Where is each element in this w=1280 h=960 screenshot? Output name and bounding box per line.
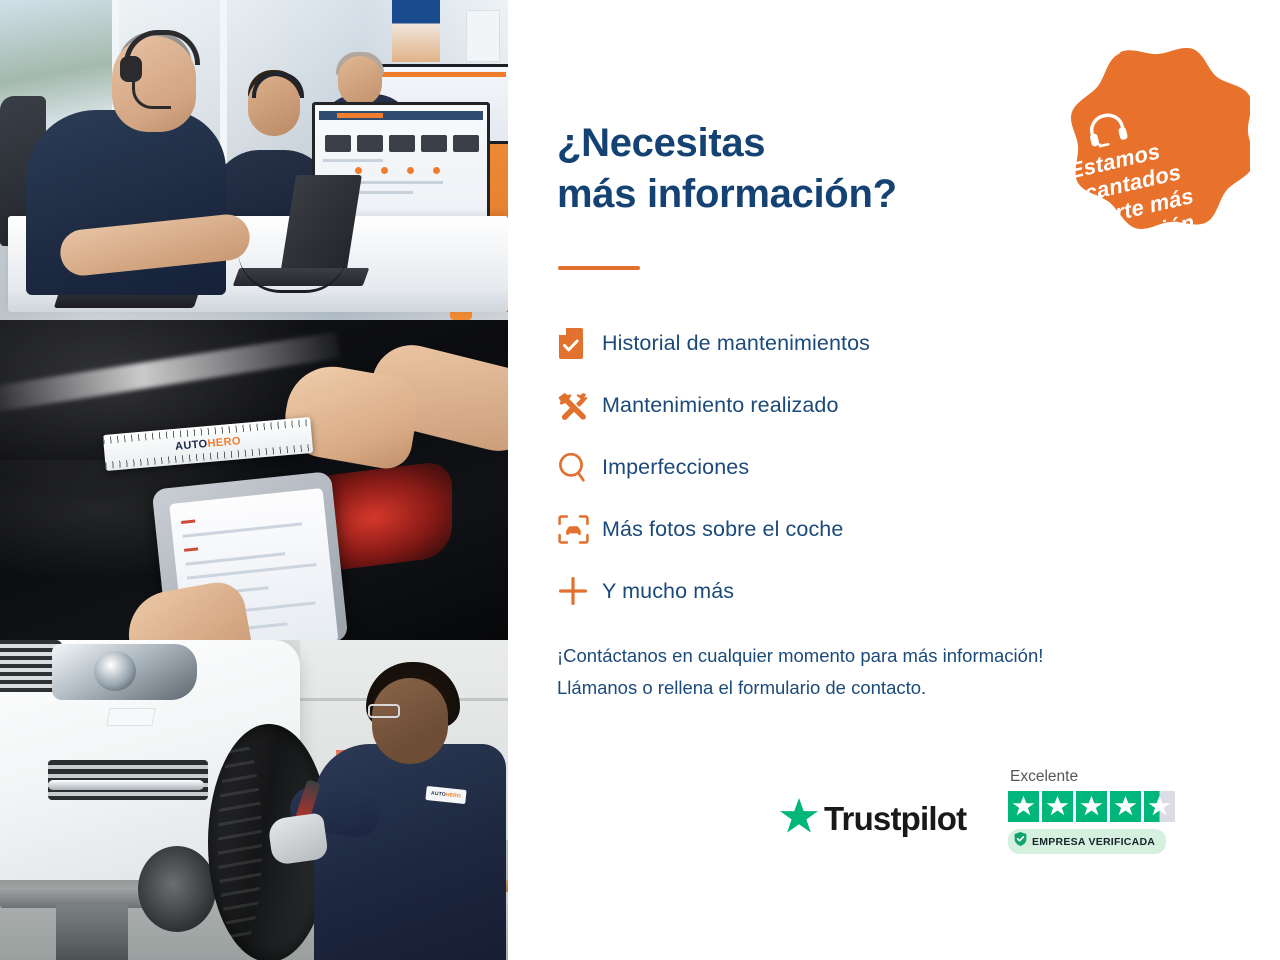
trustpilot-star-icon xyxy=(780,798,818,840)
mechanic-body xyxy=(314,744,506,960)
trustpilot-rating-block: Excelente xyxy=(1008,768,1208,854)
title-underline xyxy=(558,266,640,270)
support-badge: Estamos encantados de darte más informac… xyxy=(988,47,1250,315)
shield-check-icon xyxy=(1014,832,1027,851)
safety-glasses xyxy=(368,704,400,718)
feature-item-maintenance-done: Mantenimiento realizado xyxy=(558,374,1098,436)
agent-3-head xyxy=(338,56,382,106)
ruler-logo-hero: HERO xyxy=(207,435,241,450)
verified-company-badge: EMPRESA VERIFICADA xyxy=(1008,829,1166,854)
plus-icon xyxy=(558,576,602,606)
star-4 xyxy=(1110,791,1141,822)
star-5-half xyxy=(1144,791,1175,822)
trustpilot-rating-label: Excelente xyxy=(1010,768,1208,786)
magnifier-icon xyxy=(558,452,602,482)
ruler-logo-auto: AUTO xyxy=(175,438,209,453)
feature-item-much-more: Y mucho más xyxy=(558,560,1098,622)
page-title-line1: ¿Necesitas xyxy=(557,121,765,165)
star-3 xyxy=(1076,791,1107,822)
taillight xyxy=(322,460,452,572)
star-2 xyxy=(1042,791,1073,822)
car-viewfinder-icon xyxy=(558,515,602,544)
feature-label: Y mucho más xyxy=(602,579,734,604)
star-1 xyxy=(1008,791,1039,822)
patch-logo-hero: HERO xyxy=(445,792,461,800)
autohero-more-info-panel: AUTOHERO xyxy=(0,0,1280,960)
feature-label: Mantenimiento realizado xyxy=(602,393,839,418)
call-center-agents-photo xyxy=(0,0,508,320)
feature-label: Más fotos sobre el coche xyxy=(602,517,843,542)
photo-column: AUTOHERO xyxy=(0,0,508,960)
tools-wrench-screwdriver-icon xyxy=(558,390,602,421)
trustpilot-widget[interactable]: Trustpilot Excelente xyxy=(780,768,1200,880)
contact-line-1: ¡Contáctanos en cualquier momento para m… xyxy=(557,645,1043,666)
feature-label: Imperfecciones xyxy=(602,455,749,480)
license-plate-area xyxy=(106,708,155,726)
patch-logo-auto: AUTO xyxy=(431,790,446,798)
info-content: ¿Necesitasmás información? Es xyxy=(508,0,1280,960)
feature-label: Historial de mantenimientos xyxy=(602,331,870,356)
trustpilot-stars xyxy=(1008,791,1208,822)
car-headlamp xyxy=(52,644,197,700)
document-check-icon xyxy=(558,328,602,359)
inspector-hand-lower xyxy=(122,578,254,640)
page-title-line2: más información? xyxy=(557,172,897,216)
chrome-trim xyxy=(48,780,204,790)
wall-poster-small xyxy=(466,10,500,62)
feature-item-imperfections: Imperfecciones xyxy=(558,436,1098,498)
trustpilot-logo[interactable]: Trustpilot xyxy=(780,798,966,840)
verified-label: EMPRESA VERIFICADA xyxy=(1032,836,1155,848)
mechanic-glove xyxy=(267,812,329,865)
wheel-hub xyxy=(138,846,216,932)
mechanic-tire-photo: AUTOHERO xyxy=(0,640,508,960)
trustpilot-brand-name: Trustpilot xyxy=(824,800,966,838)
feature-item-more-photos: Más fotos sobre el coche xyxy=(558,498,1098,560)
mechanic-head xyxy=(372,678,448,764)
contact-line-2: Llámanos o rellena el formulario de cont… xyxy=(557,677,926,698)
contact-paragraph: ¡Contáctanos en cualquier momento para m… xyxy=(557,640,1237,704)
feature-list: Historial de mantenimientos Mantenimient… xyxy=(558,312,1098,622)
wall-poster xyxy=(392,0,440,62)
car-inspection-ruler-photo: AUTOHERO xyxy=(0,320,508,640)
lift-post xyxy=(56,904,128,960)
page-title: ¿Necesitasmás información? xyxy=(557,118,1017,220)
feature-item-maintenance-history: Historial de mantenimientos xyxy=(558,312,1098,374)
